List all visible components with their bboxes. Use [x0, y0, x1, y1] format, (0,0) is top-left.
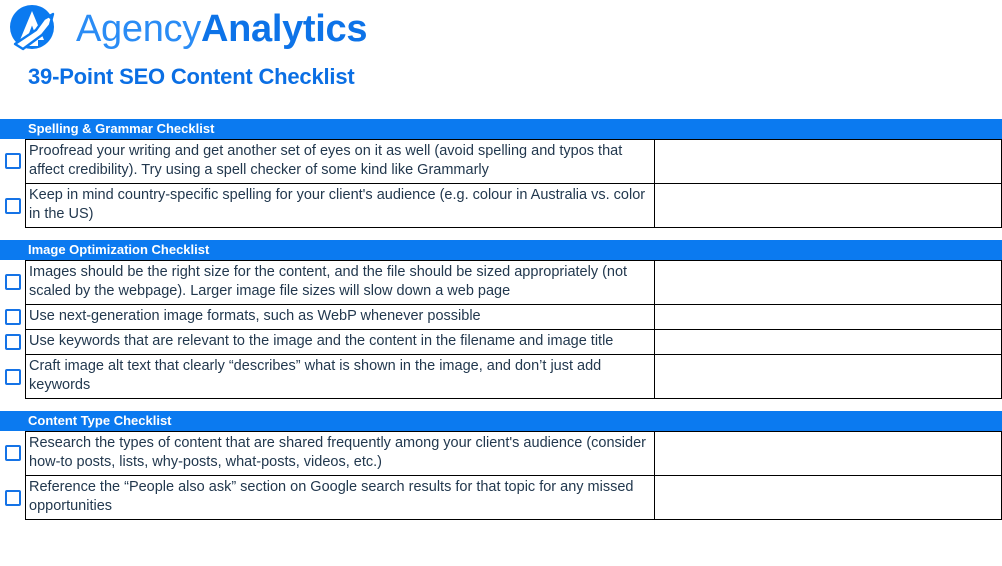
brand-wordmark: AgencyAnalytics [76, 10, 367, 48]
page-title: 39-Point SEO Content Checklist [28, 64, 355, 90]
row-cells: Use keywords that are relevant to the im… [25, 329, 1002, 354]
checklist-item-text: Images should be the right size for the … [25, 260, 655, 304]
checkbox-unchecked-icon[interactable] [5, 490, 21, 506]
checklist-row: Keep in mind country-specific spelling f… [0, 183, 1002, 228]
checklist-note-cell[interactable] [655, 260, 1002, 304]
row-cells: Craft image alt text that clearly “descr… [25, 354, 1002, 399]
checklist-item-text: Keep in mind country-specific spelling f… [25, 183, 655, 228]
section-header: Spelling & Grammar Checklist [0, 119, 1002, 139]
checklist-note-cell[interactable] [655, 304, 1002, 329]
checklist-row: Images should be the right size for the … [0, 260, 1002, 304]
checklist-note-cell[interactable] [655, 431, 1002, 475]
checkbox-cell[interactable] [0, 183, 25, 228]
checklist-rows: Research the types of content that are s… [0, 431, 1002, 520]
checklist-rows: Images should be the right size for the … [0, 260, 1002, 399]
checkbox-unchecked-icon[interactable] [5, 309, 21, 325]
checkbox-cell[interactable] [0, 260, 25, 304]
brand-word-analytics: Analytics [201, 8, 367, 50]
checkbox-unchecked-icon[interactable] [5, 445, 21, 461]
checkbox-unchecked-icon[interactable] [5, 153, 21, 169]
checklist-row: Research the types of content that are s… [0, 431, 1002, 475]
checklist-note-cell[interactable] [655, 354, 1002, 399]
checklist-rows: Proofread your writing and get another s… [0, 139, 1002, 228]
checklist-section: Image Optimization ChecklistImages shoul… [0, 240, 1002, 399]
checkbox-unchecked-icon[interactable] [5, 334, 21, 350]
row-cells: Images should be the right size for the … [25, 260, 1002, 304]
checkbox-cell[interactable] [0, 304, 25, 329]
checkbox-cell[interactable] [0, 139, 25, 183]
row-cells: Reference the “People also ask” section … [25, 475, 1002, 520]
checklist-document-page: AgencyAnalytics 39-Point SEO Content Che… [0, 0, 1002, 566]
checklist-item-text: Use keywords that are relevant to the im… [25, 329, 655, 354]
section-header: Image Optimization Checklist [0, 240, 1002, 260]
checkbox-unchecked-icon[interactable] [5, 198, 21, 214]
checklist-note-cell[interactable] [655, 183, 1002, 228]
checklist-item-text: Proofread your writing and get another s… [25, 139, 655, 183]
brand-word-agency: Agency [76, 8, 201, 50]
checklist-row: Proofread your writing and get another s… [0, 139, 1002, 183]
checklist-row: Use next-generation image formats, such … [0, 304, 1002, 329]
checklist-note-cell[interactable] [655, 475, 1002, 520]
checklist-row: Use keywords that are relevant to the im… [0, 329, 1002, 354]
checkbox-unchecked-icon[interactable] [5, 274, 21, 290]
section-header: Content Type Checklist [0, 411, 1002, 431]
row-cells: Research the types of content that are s… [25, 431, 1002, 475]
checkbox-cell[interactable] [0, 354, 25, 399]
checklist-item-text: Use next-generation image formats, such … [25, 304, 655, 329]
checklist-section: Content Type ChecklistResearch the types… [0, 411, 1002, 520]
checklist-item-text: Craft image alt text that clearly “descr… [25, 354, 655, 399]
checkbox-cell[interactable] [0, 329, 25, 354]
row-cells: Keep in mind country-specific spelling f… [25, 183, 1002, 228]
checklist-row: Craft image alt text that clearly “descr… [0, 354, 1002, 399]
row-cells: Use next-generation image formats, such … [25, 304, 1002, 329]
checklist-item-text: Reference the “People also ask” section … [25, 475, 655, 520]
brand-header: AgencyAnalytics [6, 2, 367, 56]
checklist-sections: Spelling & Grammar ChecklistProofread yo… [0, 119, 1002, 532]
checklist-section: Spelling & Grammar ChecklistProofread yo… [0, 119, 1002, 228]
agencyanalytics-circle-arrow-logo-icon [6, 2, 66, 56]
checklist-note-cell[interactable] [655, 139, 1002, 183]
checklist-item-text: Research the types of content that are s… [25, 431, 655, 475]
checkbox-cell[interactable] [0, 431, 25, 475]
checkbox-unchecked-icon[interactable] [5, 369, 21, 385]
checklist-row: Reference the “People also ask” section … [0, 475, 1002, 520]
row-cells: Proofread your writing and get another s… [25, 139, 1002, 183]
checklist-note-cell[interactable] [655, 329, 1002, 354]
checkbox-cell[interactable] [0, 475, 25, 520]
